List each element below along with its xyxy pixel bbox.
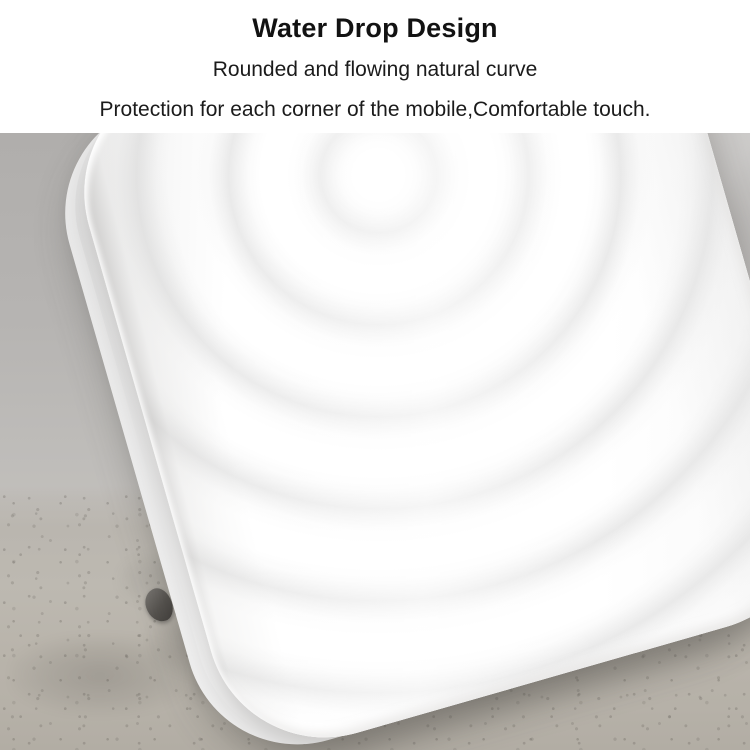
tagline-text: Protection for each corner of the mobile… (0, 97, 750, 123)
page-title: Water Drop Design (0, 12, 750, 44)
phone-case (0, 133, 750, 750)
product-feature-image: Water Drop Design Rounded and flowing na… (0, 0, 750, 750)
case-main-shell (56, 133, 750, 750)
header-text-block: Water Drop Design Rounded and flowing na… (0, 0, 750, 133)
case-rim-highlight (56, 133, 750, 750)
subtitle-text: Rounded and flowing natural curve (0, 57, 750, 83)
product-photo (0, 133, 750, 750)
